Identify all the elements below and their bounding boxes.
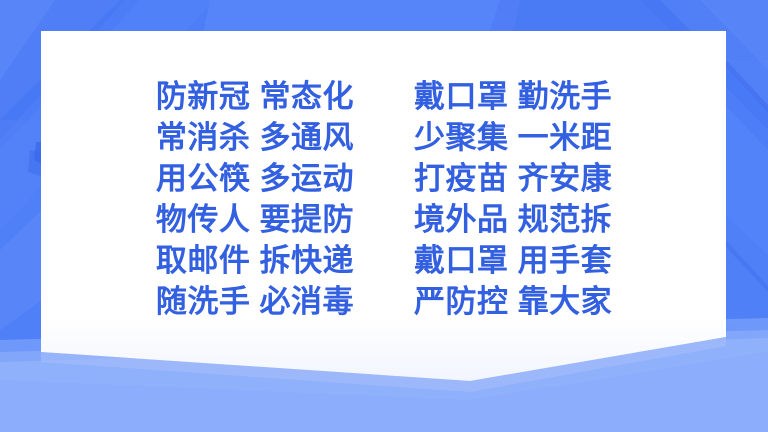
content-card [0,0,768,432]
slogan-line: 戴口罩 勤洗手 [414,76,612,117]
poster-canvas: 防新冠 常态化 常消杀 多通风 用公筷 多运动 物传人 要提防 取邮件 拆快递 … [0,0,768,432]
slogan-line: 取邮件 拆快递 [156,240,354,281]
slogan-line: 少聚集 一米距 [414,117,612,158]
slogan-line: 常消杀 多通风 [156,117,354,158]
slogan-column-right: 戴口罩 勤洗手 少聚集 一米距 打疫苗 齐安康 境外品 规范拆 戴口罩 用手套 … [414,76,612,322]
slogan-line: 戴口罩 用手套 [414,240,612,281]
slogan-line: 境外品 规范拆 [414,199,612,240]
slogan-line: 防新冠 常态化 [156,76,354,117]
slogan-column-left: 防新冠 常态化 常消杀 多通风 用公筷 多运动 物传人 要提防 取邮件 拆快递 … [156,76,354,322]
slogan-line: 打疫苗 齐安康 [414,158,612,199]
slogan-line: 严防控 靠大家 [414,281,612,322]
slogan-line: 用公筷 多运动 [156,158,354,199]
slogan-line: 物传人 要提防 [156,199,354,240]
slogan-line: 随洗手 必消毒 [156,281,354,322]
